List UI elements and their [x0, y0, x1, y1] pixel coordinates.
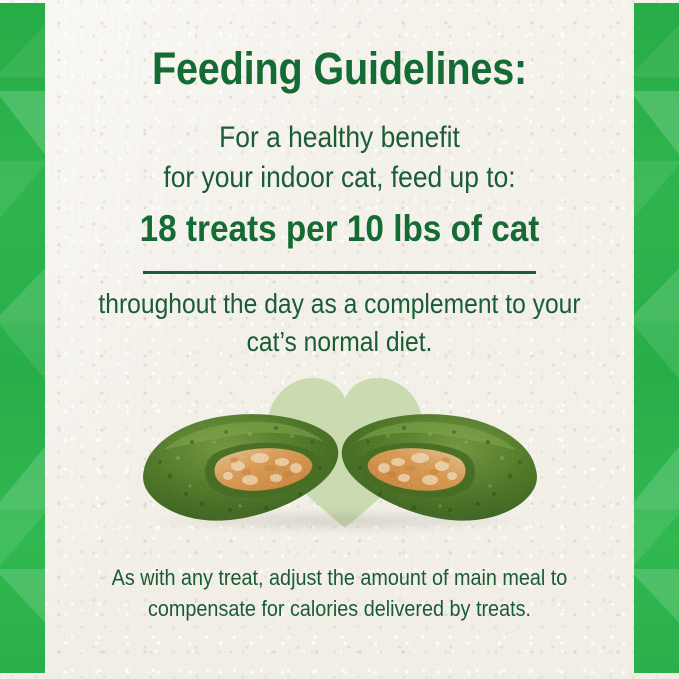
page-title: Feeding Guidelines:: [80, 45, 598, 92]
band-facet-icon: [634, 91, 679, 161]
footnote-line-2: compensate for calories delivered by tre…: [74, 593, 604, 624]
subtext-line-2: cat’s normal diet.: [80, 323, 598, 361]
left-green-band: [0, 3, 45, 673]
band-facet-icon: [634, 443, 679, 509]
right-green-band: [634, 3, 679, 673]
divider: [143, 271, 536, 274]
subtext-line-1: throughout the day as a complement to yo…: [80, 285, 598, 323]
treat-shadow: [150, 510, 530, 532]
band-facet-icon: [634, 323, 679, 385]
lead-paragraph: For a healthy benefit for your indoor ca…: [80, 118, 598, 197]
band-facet-icon: [634, 161, 679, 225]
feeding-amount-headline: 18 treats per 10 lbs of cat: [74, 208, 604, 250]
band-facet-icon: [634, 509, 679, 569]
band-facet-icon: [0, 265, 45, 323]
band-facet-icon: [0, 509, 45, 569]
band-facet-icon: [634, 569, 679, 627]
lead-line-1: For a healthy benefit: [80, 118, 598, 158]
feeding-subtext: throughout the day as a complement to yo…: [80, 285, 598, 361]
band-facet-icon: [0, 161, 45, 225]
footnote-line-1: As with any treat, adjust the amount of …: [74, 562, 604, 593]
treat-left: [143, 414, 338, 521]
band-facet-icon: [0, 91, 45, 161]
lead-line-2: for your indoor cat, feed up to:: [80, 158, 598, 198]
band-facet-icon: [0, 443, 45, 509]
footnote: As with any treat, adjust the amount of …: [74, 562, 604, 624]
band-facet-icon: [0, 323, 45, 385]
band-facet-icon: [634, 265, 679, 323]
band-facet-icon: [0, 21, 45, 77]
feeding-guidelines-panel: Feeding Guidelines: For a healthy benefi…: [0, 0, 679, 679]
band-facet-icon: [634, 21, 679, 77]
treat-right: [342, 414, 537, 521]
band-facet-icon: [0, 569, 45, 627]
treat-image-group: [130, 398, 550, 538]
